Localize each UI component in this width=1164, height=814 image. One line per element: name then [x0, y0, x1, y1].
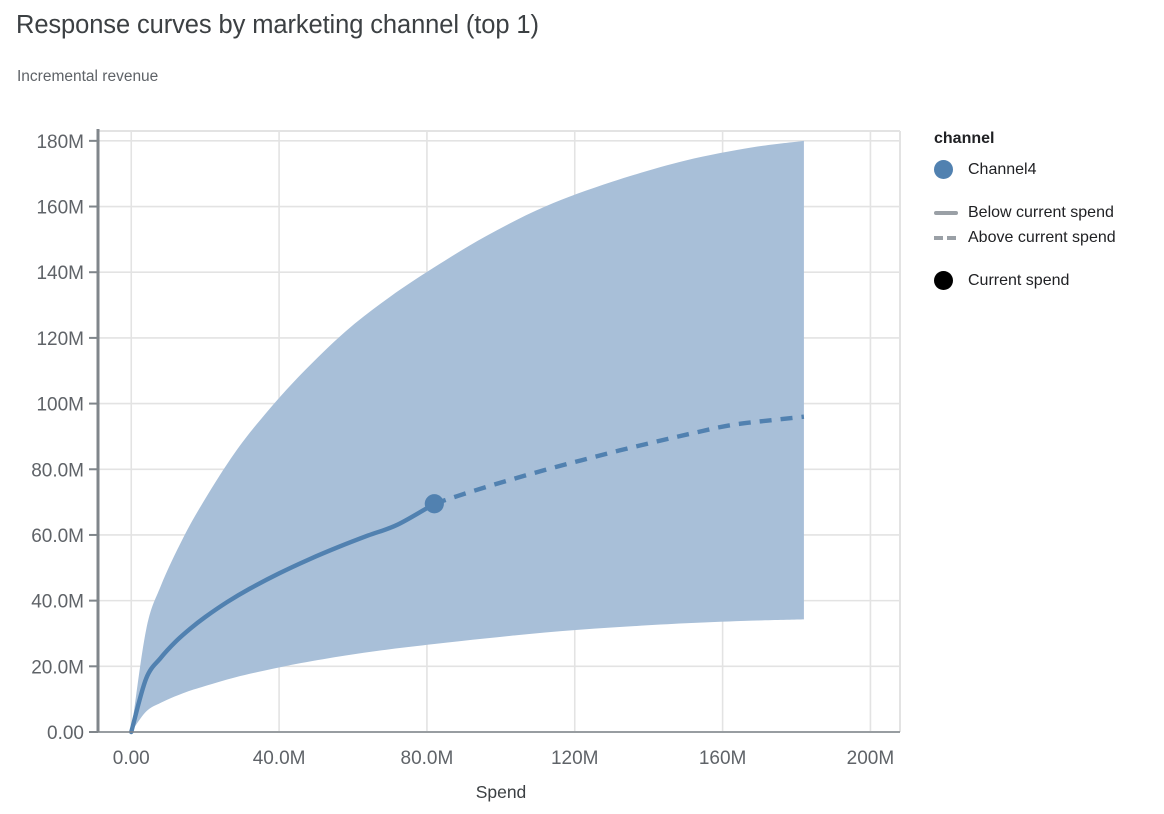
x-axis-title-group: Spend [476, 782, 527, 802]
x-axis-tick-label: 200M [847, 748, 895, 769]
legend-style-list: Below current spendAbove current spend [934, 200, 1164, 250]
response-curve-chart: Response curves by marketing channel (to… [0, 0, 1164, 814]
legend-marker-current-spend-label: Current spend [968, 272, 1069, 290]
current-spend-marker[interactable] [425, 494, 444, 513]
y-axis-tick-label: 40.0M [31, 592, 84, 613]
y-axis-tick-label: 180M [36, 132, 84, 153]
legend: channel Channel4 Below current spendAbov… [934, 130, 1164, 293]
legend-series-list: Channel4 [934, 157, 1164, 182]
legend-style-0-row[interactable]: Below current spend [934, 200, 1164, 225]
current-spend-dot-icon-glyph [934, 271, 953, 290]
legend-series-channel4-row[interactable]: Channel4 [934, 157, 1164, 182]
legend-series-channel4-label: Channel4 [968, 161, 1037, 179]
x-axis-tick-label: 80.0M [401, 748, 454, 769]
legend-marker-list: Current spend [934, 268, 1164, 293]
confidence-band-group [131, 141, 804, 732]
y-axis-tick-label: 140M [36, 263, 84, 284]
legend-spacer [934, 182, 1164, 200]
dashed-line-icon-glyph [934, 236, 958, 240]
dashed-line-icon [934, 228, 964, 248]
y-axis-tick-label: 20.0M [31, 657, 84, 678]
channel-color-dot-icon-glyph [934, 160, 953, 179]
x-axis-tick-label: 0.00 [113, 748, 150, 769]
legend-style-1-row[interactable]: Above current spend [934, 225, 1164, 250]
legend-marker-current-spend-row[interactable]: Current spend [934, 268, 1164, 293]
x-axis-tick-label: 160M [699, 748, 747, 769]
y-axis-tick-label: 160M [36, 198, 84, 219]
current-spend-dot-icon [934, 271, 964, 291]
plot-area: 0.0020.0M40.0M60.0M80.0M100M120M140M160M… [0, 0, 1164, 814]
x-axis-tick-label: 40.0M [253, 748, 306, 769]
y-axis-tick-label: 100M [36, 395, 84, 416]
y-axis-tick-label: 80.0M [31, 460, 84, 481]
y-axis-tick-label: 60.0M [31, 526, 84, 547]
y-axis-tick-label: 120M [36, 329, 84, 350]
legend-style-1-label: Above current spend [968, 229, 1116, 247]
current-spend-marker-group [425, 494, 444, 513]
confidence-band [131, 141, 804, 732]
x-axis-tick-label: 120M [551, 748, 599, 769]
solid-line-icon [934, 203, 964, 223]
legend-style-0-label: Below current spend [968, 204, 1114, 222]
legend-spacer-2 [934, 250, 1164, 268]
legend-title: channel [934, 130, 1164, 148]
channel-color-dot-icon [934, 160, 964, 180]
x-axis-title: Spend [476, 782, 527, 802]
solid-line-icon-glyph [934, 211, 958, 215]
y-axis-tick-label: 0.00 [47, 723, 84, 744]
